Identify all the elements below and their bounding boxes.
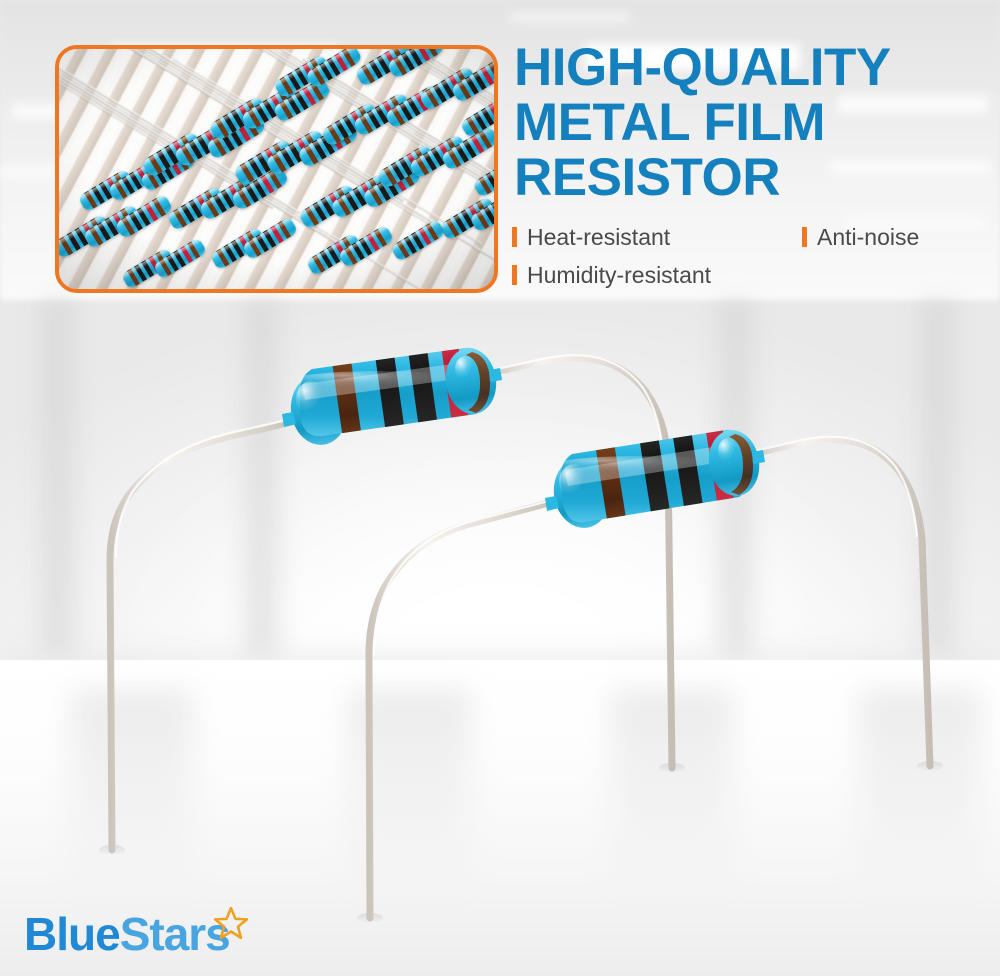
logo-text-blue: Blue — [24, 910, 120, 958]
resistor-1 — [282, 316, 503, 449]
resistor-2-left-lead — [369, 500, 560, 918]
product-marketing-image: HIGH-QUALITY METAL FILM RESISTOR Heat-re… — [0, 0, 1000, 976]
resistor-1-leads — [110, 355, 672, 850]
bluestars-logo: Blue Stars — [24, 906, 248, 962]
resistor-2-left-lead-highlight — [374, 498, 560, 655]
resistor-2-right-nub — [752, 450, 765, 464]
logo-star-icon — [214, 906, 248, 940]
product-illustration — [0, 0, 1000, 976]
resistor-1-right-nub — [489, 368, 502, 382]
resistor-1-left-lead-highlight — [116, 417, 300, 556]
resistor-2-right-lead — [748, 439, 930, 766]
resistor-1-right-lead — [486, 358, 672, 768]
